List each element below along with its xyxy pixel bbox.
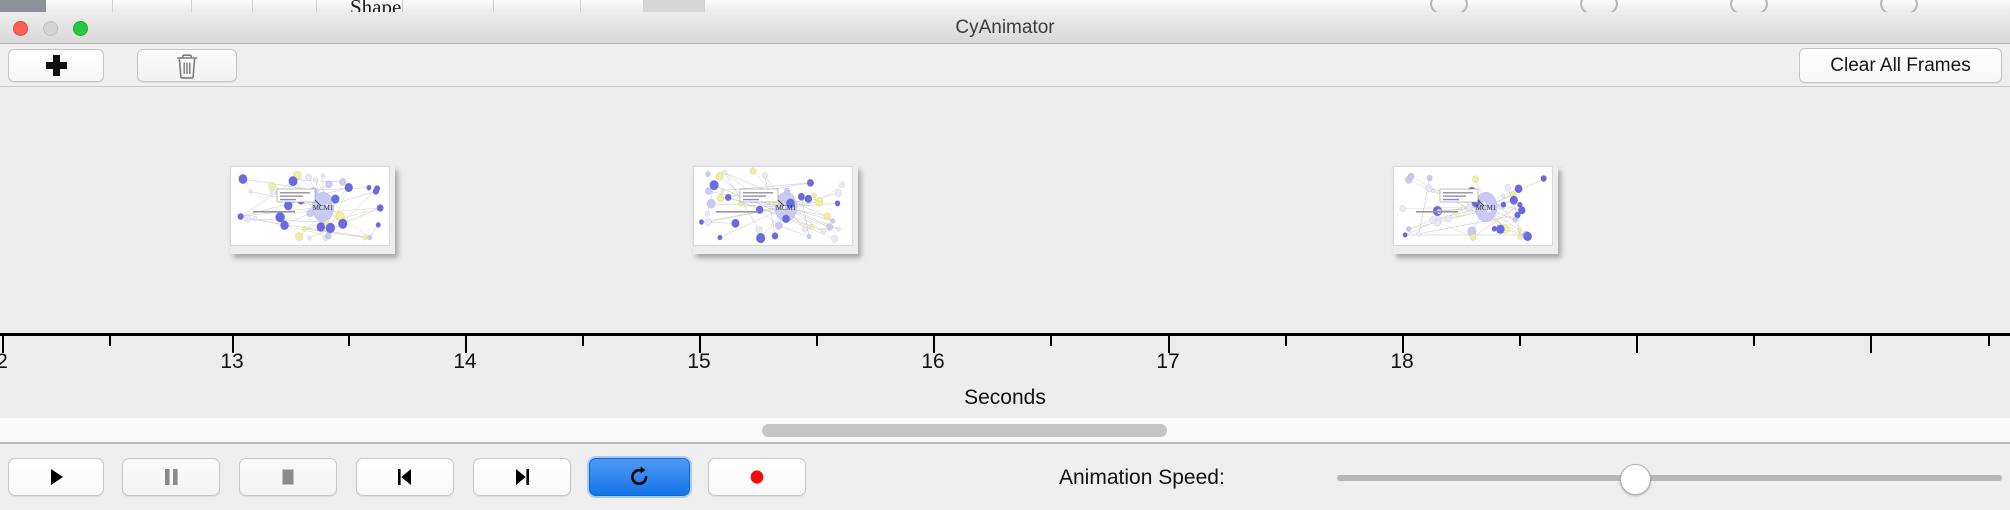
pause-button[interactable]: [122, 458, 220, 496]
axis-tick-label: 17: [1156, 350, 1179, 374]
background-label-shape: Shape: [350, 0, 401, 12]
frame-toolbar: Clear All Frames: [0, 44, 2010, 87]
timeline-frame-thumbnail[interactable]: MCM1: [230, 166, 390, 246]
axis-tick-major: [1636, 336, 1638, 353]
background-curve: [1430, 0, 1468, 12]
background-chunk: [494, 0, 581, 12]
axis-tick-minor: [582, 336, 584, 346]
background-chunk: [113, 0, 192, 12]
background-curve: [1580, 0, 1618, 12]
record-icon: [742, 465, 772, 489]
animation-speed-slider-thumb[interactable]: [1620, 464, 1651, 495]
play-icon: [41, 465, 71, 489]
axis-tick-minor: [348, 336, 350, 346]
delete-frame-button[interactable]: [137, 49, 237, 82]
trash-icon: [174, 52, 200, 80]
axis-title: Seconds: [0, 386, 2010, 410]
svg-text:MCM1: MCM1: [313, 204, 334, 212]
axis-tick-label: 16: [921, 350, 944, 374]
axis-tick-major: [1870, 336, 1872, 353]
timeline-frame-thumbnail[interactable]: MCM1: [1393, 166, 1553, 246]
background-curve: [1730, 0, 1768, 12]
background-chunk: [705, 0, 2010, 12]
network-graph-thumbnail: MCM1: [694, 167, 852, 245]
axis-tick-minor: [1285, 336, 1287, 346]
title-bar: CyAnimator: [0, 12, 2010, 44]
window-title: CyAnimator: [0, 12, 2010, 44]
axis-tick-minor: [109, 336, 111, 346]
frame-thumbnail-image: MCM1: [231, 167, 389, 245]
clear-all-frames-button[interactable]: Clear All Frames: [1799, 48, 2002, 83]
axis-tick-minor: [1050, 336, 1052, 346]
axis-tick-label: 13: [220, 350, 243, 374]
timeline-axis: [0, 333, 2010, 336]
axis-tick-minor: [1519, 336, 1521, 346]
stop-icon: [273, 465, 303, 489]
loop-button[interactable]: [589, 458, 690, 496]
cyanimator-window: Shape CyAnimator Clear All Frames MCM1MC…: [0, 0, 2010, 510]
background-dark-chunk: [0, 0, 46, 12]
skip-back-button[interactable]: [356, 458, 454, 496]
timeline-frame-thumbnail[interactable]: MCM1: [693, 166, 853, 246]
background-curve: [1880, 0, 1918, 12]
animation-speed-label: Animation Speed:: [1059, 466, 1225, 490]
axis-tick-label: 18: [1390, 350, 1413, 374]
axis-tick-minor: [816, 336, 818, 346]
skip-back-icon: [390, 465, 420, 489]
timeline-scrollbar-track[interactable]: [0, 418, 2010, 444]
timeline-canvas[interactable]: MCM1MCM1MCM1 2131415161718 Seconds: [0, 88, 2010, 418]
background-chunk-selected: [644, 0, 705, 12]
frame-thumbnail-image: MCM1: [1394, 167, 1552, 245]
svg-text:MCM1: MCM1: [1476, 204, 1497, 212]
background-chunk: [192, 0, 253, 12]
axis-tick-minor: [1988, 336, 1990, 346]
frame-thumbnail-image: MCM1: [694, 167, 852, 245]
background-chunk: [46, 0, 113, 12]
animation-speed-slider-track[interactable]: [1337, 475, 2002, 481]
svg-text:MCM1: MCM1: [776, 204, 797, 212]
axis-tick-label: 14: [453, 350, 476, 374]
network-graph-thumbnail: MCM1: [231, 167, 389, 245]
play-button[interactable]: [8, 458, 104, 496]
background-chunk: [403, 0, 494, 12]
loop-icon: [625, 465, 655, 489]
background-chunk: [581, 0, 644, 12]
background-window-strip: Shape: [0, 0, 2010, 12]
network-graph-thumbnail: MCM1: [1394, 167, 1552, 245]
stop-button[interactable]: [239, 458, 337, 496]
background-chunk: [253, 0, 317, 12]
skip-forward-icon: [507, 465, 537, 489]
add-frame-button[interactable]: [8, 49, 104, 82]
axis-tick-label: 2: [0, 350, 8, 374]
axis-tick-label: 15: [687, 350, 710, 374]
record-button[interactable]: [708, 458, 806, 496]
pause-icon: [156, 465, 186, 489]
skip-forward-button[interactable]: [473, 458, 571, 496]
timeline-scrollbar-thumb[interactable]: [762, 424, 1167, 437]
axis-tick-minor: [1753, 336, 1755, 346]
plus-icon: [46, 55, 67, 76]
playback-toolbar: Animation Speed:: [0, 444, 2010, 510]
